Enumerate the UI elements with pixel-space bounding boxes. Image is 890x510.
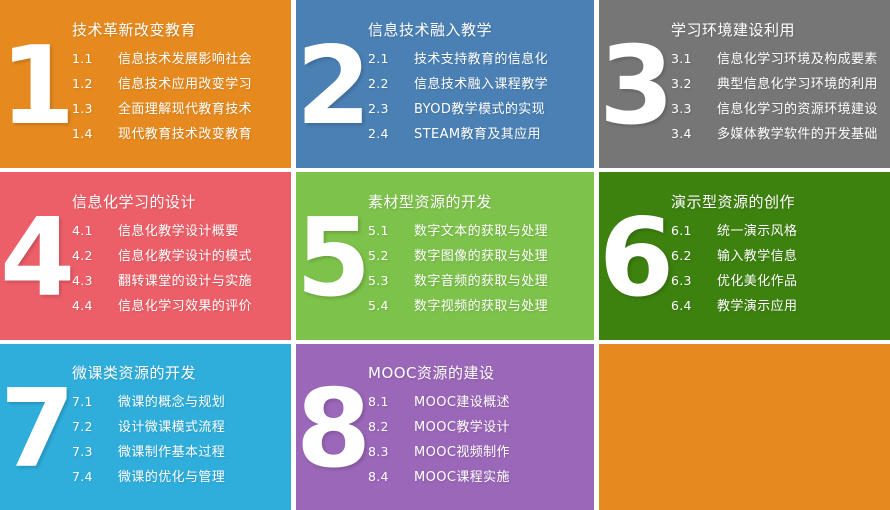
list-item[interactable]: 6.2输入教学信息	[671, 244, 889, 269]
list-item-label: 设计微课模式流程	[118, 416, 285, 440]
list-item-number: 8.1	[368, 390, 414, 414]
list-item-number: 3.1	[671, 47, 717, 71]
list-item-label: 数字视频的获取与处理	[414, 295, 588, 319]
panel-content: 素材型资源的开发5.1数字文本的获取与处理5.2数字图像的获取与处理5.3数字音…	[368, 192, 594, 319]
panel-item-list: 3.1信息化学习环境及构成要素3.2典型信息化学习环境的利用3.3信息化学习的资…	[671, 47, 889, 147]
panel-title: 技术革新改变教育	[72, 20, 285, 40]
list-item-number: 4.3	[72, 269, 118, 293]
list-item[interactable]: 5.3数字音频的获取与处理	[368, 269, 588, 294]
list-item[interactable]: 3.2典型信息化学习环境的利用	[671, 72, 889, 97]
list-item[interactable]: 4.4信息化学习效果的评价	[72, 294, 285, 319]
panel-inner: 7微课类资源的开发7.1微课的概念与规划7.2设计微课模式流程7.3微课制作基本…	[0, 344, 291, 510]
list-item[interactable]: 2.2信息技术融入课程教学	[368, 72, 588, 97]
panel-item-list: 7.1微课的概念与规划7.2设计微课模式流程7.3微课制作基本过程7.4微课的优…	[72, 390, 285, 490]
list-item[interactable]: 3.1信息化学习环境及构成要素	[671, 47, 889, 72]
list-item-number: 6.1	[671, 219, 717, 243]
list-item-number: 2.3	[368, 97, 414, 121]
list-item-label: 微课的概念与规划	[118, 391, 285, 415]
panel-1[interactable]: 1技术革新改变教育1.1信息技术发展影响社会1.2信息技术应用改变学习1.3全面…	[0, 0, 291, 168]
list-item-number: 1.3	[72, 97, 118, 121]
panel-title: 素材型资源的开发	[368, 192, 588, 212]
panel-item-list: 1.1信息技术发展影响社会1.2信息技术应用改变学习1.3全面理解现代教育技术1…	[72, 47, 285, 147]
list-item-label: 数字图像的获取与处理	[414, 245, 588, 269]
list-item[interactable]: 7.4微课的优化与管理	[72, 465, 285, 490]
panel-5[interactable]: 5素材型资源的开发5.1数字文本的获取与处理5.2数字图像的获取与处理5.3数字…	[296, 172, 594, 340]
panel-6[interactable]: 6演示型资源的创作6.1统一演示风格6.2输入教学信息6.3优化美化作品6.4教…	[599, 172, 890, 340]
list-item-number: 8.4	[368, 465, 414, 489]
list-item-number: 6.3	[671, 269, 717, 293]
list-item-number: 7.4	[72, 465, 118, 489]
panel-title: 演示型资源的创作	[671, 192, 889, 212]
panel-inner: 8MOOC资源的建设8.1MOOC建设概述8.2MOOC教学设计8.3MOOC视…	[296, 344, 594, 510]
panel-inner: 4信息化学习的设计4.1信息化教学设计概要4.2信息化教学设计的模式4.3翻转课…	[0, 172, 291, 340]
panel-content: 演示型资源的创作6.1统一演示风格6.2输入教学信息6.3优化美化作品6.4教学…	[671, 192, 890, 319]
list-item-label: 教学演示应用	[717, 295, 889, 319]
list-item-number: 5.1	[368, 219, 414, 243]
list-item-label: MOOC建设概述	[414, 391, 588, 415]
list-item-number: 3.3	[671, 97, 717, 121]
list-item-label: 微课的优化与管理	[118, 466, 285, 490]
list-item[interactable]: 8.1MOOC建设概述	[368, 390, 588, 415]
panel-item-list: 6.1统一演示风格6.2输入教学信息6.3优化美化作品6.4教学演示应用	[671, 219, 889, 319]
list-item-number: 5.3	[368, 269, 414, 293]
panel-3[interactable]: 3学习环境建设利用3.1信息化学习环境及构成要素3.2典型信息化学习环境的利用3…	[599, 0, 890, 168]
list-item-number: 2.4	[368, 122, 414, 146]
list-item-label: 数字音频的获取与处理	[414, 270, 588, 294]
list-item-label: 信息化教学设计概要	[118, 220, 285, 244]
list-item-label: 优化美化作品	[717, 270, 889, 294]
list-item-label: 典型信息化学习环境的利用	[717, 73, 889, 97]
list-item-label: MOOC课程实施	[414, 466, 588, 490]
list-item-label: 技术支持教育的信息化	[414, 48, 588, 72]
list-item-number: 3.2	[671, 72, 717, 96]
list-item[interactable]: 1.1信息技术发展影响社会	[72, 47, 285, 72]
panel-title: 学习环境建设利用	[671, 20, 889, 40]
list-item[interactable]: 2.3BYOD教学模式的实现	[368, 97, 588, 122]
list-item-number: 6.2	[671, 244, 717, 268]
list-item[interactable]: 3.4多媒体教学软件的开发基础	[671, 122, 889, 147]
panel-content: 学习环境建设利用3.1信息化学习环境及构成要素3.2典型信息化学习环境的利用3.…	[671, 20, 890, 147]
list-item-label: 微课制作基本过程	[118, 441, 285, 465]
panel-title: MOOC资源的建设	[368, 363, 588, 383]
list-item-label: 信息化教学设计的模式	[118, 245, 285, 269]
list-item-label: 全面理解现代教育技术	[118, 98, 285, 122]
list-item[interactable]: 6.1统一演示风格	[671, 219, 889, 244]
panel-number: 8	[296, 376, 368, 484]
list-item-number: 7.1	[72, 390, 118, 414]
panel-number: 6	[599, 205, 671, 313]
list-item[interactable]: 1.3全面理解现代教育技术	[72, 97, 285, 122]
list-item[interactable]: 4.2信息化教学设计的模式	[72, 244, 285, 269]
list-item-label: 现代教育技术改变教育	[118, 123, 285, 147]
list-item-number: 7.3	[72, 440, 118, 464]
list-item-label: BYOD教学模式的实现	[414, 98, 588, 122]
list-item[interactable]: 2.1技术支持教育的信息化	[368, 47, 588, 72]
panel-title: 信息化学习的设计	[72, 192, 285, 212]
list-item[interactable]: 6.4教学演示应用	[671, 294, 889, 319]
list-item-label: 信息技术应用改变学习	[118, 73, 285, 97]
list-item[interactable]: 7.1微课的概念与规划	[72, 390, 285, 415]
panel-inner: 6演示型资源的创作6.1统一演示风格6.2输入教学信息6.3优化美化作品6.4教…	[599, 172, 890, 340]
list-item-label: 翻转课堂的设计与实施	[118, 270, 285, 294]
list-item-number: 2.1	[368, 47, 414, 71]
panel-number: 3	[599, 33, 671, 141]
list-item[interactable]: 2.4STEAM教育及其应用	[368, 122, 588, 147]
list-item-label: MOOC视频制作	[414, 441, 588, 465]
panel-number: 1	[0, 33, 72, 141]
list-item-label: 信息化学习环境及构成要素	[717, 48, 889, 72]
list-item-number: 1.1	[72, 47, 118, 71]
panel-title: 微课类资源的开发	[72, 363, 285, 383]
list-item-number: 3.4	[671, 122, 717, 146]
panel-number: 5	[296, 205, 368, 313]
panel-title: 信息技术融入教学	[368, 20, 588, 40]
list-item[interactable]: 8.2MOOC教学设计	[368, 415, 588, 440]
panel-8[interactable]: 8MOOC资源的建设8.1MOOC建设概述8.2MOOC教学设计8.3MOOC视…	[296, 344, 594, 510]
panel-content: 信息化学习的设计4.1信息化教学设计概要4.2信息化教学设计的模式4.3翻转课堂…	[72, 192, 291, 319]
list-item[interactable]: 4.3翻转课堂的设计与实施	[72, 269, 285, 294]
panel-item-list: 8.1MOOC建设概述8.2MOOC教学设计8.3MOOC视频制作8.4MOOC…	[368, 390, 588, 490]
list-item-number: 2.2	[368, 72, 414, 96]
panel-4[interactable]: 4信息化学习的设计4.1信息化教学设计概要4.2信息化教学设计的模式4.3翻转课…	[0, 172, 291, 340]
list-item[interactable]: 1.2信息技术应用改变学习	[72, 72, 285, 97]
panel-content: 信息技术融入教学2.1技术支持教育的信息化2.2信息技术融入课程教学2.3BYO…	[368, 20, 594, 147]
panel-content: 微课类资源的开发7.1微课的概念与规划7.2设计微课模式流程7.3微课制作基本过…	[72, 363, 291, 490]
list-item-number: 1.2	[72, 72, 118, 96]
list-item-label: STEAM教育及其应用	[414, 123, 588, 147]
list-item-label: 输入教学信息	[717, 245, 889, 269]
list-item-label: 信息技术发展影响社会	[118, 48, 285, 72]
panel-inner: 3学习环境建设利用3.1信息化学习环境及构成要素3.2典型信息化学习环境的利用3…	[599, 0, 890, 168]
list-item[interactable]: 7.2设计微课模式流程	[72, 415, 285, 440]
list-item[interactable]: 5.1数字文本的获取与处理	[368, 219, 588, 244]
panel-number: 7	[0, 376, 72, 484]
list-item-label: 信息技术融入课程教学	[414, 73, 588, 97]
course-outline-grid: 1技术革新改变教育1.1信息技术发展影响社会1.2信息技术应用改变学习1.3全面…	[0, 0, 890, 507]
list-item-label: 数字文本的获取与处理	[414, 220, 588, 244]
list-item-label: 信息化学习效果的评价	[118, 295, 285, 319]
list-item-number: 4.2	[72, 244, 118, 268]
panel-item-list: 5.1数字文本的获取与处理5.2数字图像的获取与处理5.3数字音频的获取与处理5…	[368, 219, 588, 319]
panel-number: 4	[0, 205, 72, 313]
list-item-label: 信息化学习的资源环境建设	[717, 98, 889, 122]
list-item-number: 6.4	[671, 294, 717, 318]
list-item-number: 5.4	[368, 294, 414, 318]
panel-inner: 5素材型资源的开发5.1数字文本的获取与处理5.2数字图像的获取与处理5.3数字…	[296, 172, 594, 340]
list-item-label: MOOC教学设计	[414, 416, 588, 440]
list-item-number: 1.4	[72, 122, 118, 146]
panel-inner	[599, 344, 890, 510]
list-item[interactable]: 8.4MOOC课程实施	[368, 465, 588, 490]
list-item-number: 5.2	[368, 244, 414, 268]
list-item[interactable]: 7.3微课制作基本过程	[72, 440, 285, 465]
list-item[interactable]: 5.2数字图像的获取与处理	[368, 244, 588, 269]
panel-item-list: 2.1技术支持教育的信息化2.2信息技术融入课程教学2.3BYOD教学模式的实现…	[368, 47, 588, 147]
panel-2[interactable]: 2信息技术融入教学2.1技术支持教育的信息化2.2信息技术融入课程教学2.3BY…	[296, 0, 594, 168]
list-item[interactable]: 5.4数字视频的获取与处理	[368, 294, 588, 319]
panel-7[interactable]: 7微课类资源的开发7.1微课的概念与规划7.2设计微课模式流程7.3微课制作基本…	[0, 344, 291, 510]
list-item-number: 7.2	[72, 415, 118, 439]
panel-item-list: 4.1信息化教学设计概要4.2信息化教学设计的模式4.3翻转课堂的设计与实施4.…	[72, 219, 285, 319]
panel-inner: 1技术革新改变教育1.1信息技术发展影响社会1.2信息技术应用改变学习1.3全面…	[0, 0, 291, 168]
panel-content: 技术革新改变教育1.1信息技术发展影响社会1.2信息技术应用改变学习1.3全面理…	[72, 20, 291, 147]
panel-content: MOOC资源的建设8.1MOOC建设概述8.2MOOC教学设计8.3MOOC视频…	[368, 363, 594, 490]
list-item[interactable]: 6.3优化美化作品	[671, 269, 889, 294]
list-item[interactable]: 4.1信息化教学设计概要	[72, 219, 285, 244]
list-item-label: 多媒体教学软件的开发基础	[717, 123, 889, 147]
list-item-number: 8.3	[368, 440, 414, 464]
list-item[interactable]: 3.3信息化学习的资源环境建设	[671, 97, 889, 122]
list-item-number: 4.4	[72, 294, 118, 318]
panel-inner: 2信息技术融入教学2.1技术支持教育的信息化2.2信息技术融入课程教学2.3BY…	[296, 0, 594, 168]
list-item[interactable]: 8.3MOOC视频制作	[368, 440, 588, 465]
list-item[interactable]: 1.4现代教育技术改变教育	[72, 122, 285, 147]
panel-number: 2	[296, 33, 368, 141]
panel-empty[interactable]	[599, 344, 890, 510]
list-item-number: 4.1	[72, 219, 118, 243]
list-item-number: 8.2	[368, 415, 414, 439]
list-item-label: 统一演示风格	[717, 220, 889, 244]
